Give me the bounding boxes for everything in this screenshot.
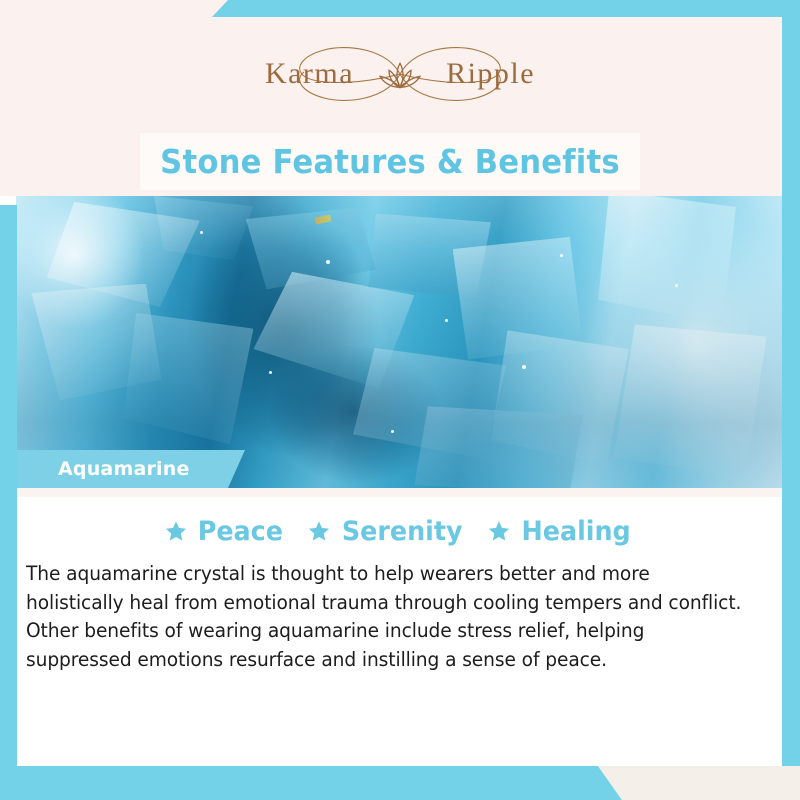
page-title: Stone Features & Benefits	[158, 133, 623, 190]
brand-logo: Karma Ripple	[0, 42, 800, 106]
brand-logo-inner: Karma Ripple	[250, 42, 550, 106]
benefits-row: Peace Serenity Healing	[0, 512, 800, 550]
benefit-label: Healing	[522, 516, 631, 547]
sparkle	[269, 371, 272, 374]
sparkle	[675, 284, 678, 287]
photo-tone-overlay	[16, 196, 782, 488]
decorative-band-right	[782, 0, 800, 800]
stone-name-badge: Aquamarine	[16, 450, 256, 488]
crystal-photo	[16, 196, 782, 488]
stone-name-label: Aquamarine	[16, 458, 190, 480]
benefit-item-healing: Healing	[488, 516, 634, 547]
cream-divider-strip	[0, 488, 800, 497]
lotus-icon	[377, 58, 423, 92]
star-icon	[488, 520, 510, 542]
sparkle	[200, 231, 203, 234]
poster-root: Karma Ripple Stone Features & Benefits	[0, 0, 800, 800]
description-paragraph: The aquamarine crystal is thought to hel…	[26, 560, 744, 674]
benefit-item-serenity: Serenity	[308, 516, 466, 547]
benefit-label: Peace	[198, 516, 283, 547]
benefit-item-peace: Peace	[165, 516, 286, 547]
benefit-label: Serenity	[342, 516, 463, 547]
star-icon	[308, 520, 330, 542]
sparkle	[445, 319, 448, 322]
star-icon	[165, 520, 187, 542]
sparkle	[522, 365, 526, 369]
